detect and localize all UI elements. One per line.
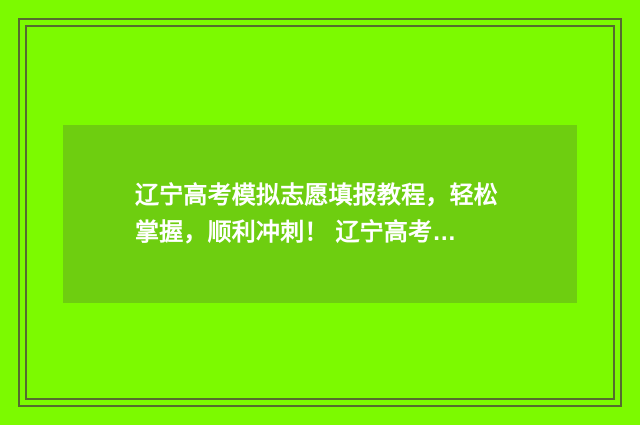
- headline-panel: 辽宁高考模拟志愿填报教程，轻松掌握，顺利冲刺！ 辽宁高考…: [63, 125, 577, 303]
- banner-headline: 辽宁高考模拟志愿填报教程，轻松掌握，顺利冲刺！ 辽宁高考…: [135, 177, 505, 251]
- banner-canvas: 辽宁高考模拟志愿填报教程，轻松掌握，顺利冲刺！ 辽宁高考…: [0, 0, 640, 425]
